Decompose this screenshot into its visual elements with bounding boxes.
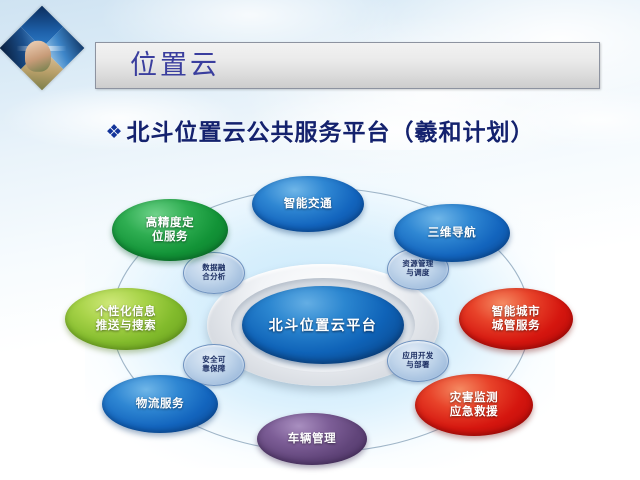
outer-node-line1: 个性化信息 — [96, 305, 157, 319]
outer-node-personalized-info-push-search[interactable]: 个性化信息 推送与搜索 — [65, 288, 187, 350]
page-title: 位置云 — [130, 52, 220, 79]
outer-node-line2: 应急救援 — [450, 405, 498, 419]
outer-node-line1: 智能城市 — [492, 305, 540, 319]
hub-label: 北斗位置云平台 — [269, 315, 378, 335]
outer-node-line1: 智能交通 — [284, 197, 332, 211]
inner-node-line2: 合分析 — [202, 273, 225, 282]
outer-node-three-dimensional-navigation[interactable]: 三维导航 — [394, 204, 510, 262]
outer-node-line1: 灾害监测 — [450, 391, 498, 405]
outer-node-logistics-service[interactable]: 物流服务 — [102, 375, 218, 433]
diamond-photo-collage-logo — [0, 6, 84, 91]
outer-node-high-precision-positioning[interactable]: 高精度定 位服务 — [112, 199, 228, 261]
outer-node-line1: 车辆管理 — [288, 432, 336, 446]
slide-canvas: 位置云 ❖ 北斗位置云公共服务平台（羲和计划） 北斗位置云平台 数据融 合分析 … — [0, 0, 640, 480]
outer-node-smart-city-urban-management[interactable]: 智能城市 城管服务 — [459, 288, 573, 350]
outer-node-vehicle-management[interactable]: 车辆管理 — [257, 413, 367, 465]
inner-node-line2: 与调度 — [406, 269, 429, 278]
outer-node-disaster-monitoring-emergency-rescue[interactable]: 灾害监测 应急救援 — [415, 374, 533, 436]
platform-architecture-diagram: 北斗位置云平台 数据融 合分析 资源管理 与调度 安全可 靠保障 应用开发 与部… — [55, 168, 585, 473]
outer-node-line1: 三维导航 — [428, 226, 476, 240]
inner-node-line2: 与部署 — [406, 361, 429, 370]
outer-node-line2: 城管服务 — [492, 319, 540, 333]
slide-subtitle: 北斗位置云公共服务平台（羲和计划） — [127, 122, 535, 145]
outer-node-line1: 物流服务 — [136, 397, 184, 411]
inner-node-application-development-deployment[interactable]: 应用开发 与部署 — [387, 340, 449, 382]
collage-person-figure — [25, 41, 51, 72]
diamond-bullet-icon: ❖ — [105, 123, 122, 142]
hub-core-platform[interactable]: 北斗位置云平台 — [242, 286, 404, 364]
outer-node-intelligent-transport[interactable]: 智能交通 — [252, 176, 364, 232]
subtitle-row: ❖ 北斗位置云公共服务平台（羲和计划） — [0, 122, 640, 145]
outer-node-line1: 高精度定 — [146, 216, 194, 230]
slide-title-bar: 位置云 — [95, 42, 600, 89]
outer-node-line2: 推送与搜索 — [96, 319, 157, 333]
inner-node-line2: 靠保障 — [202, 365, 225, 374]
outer-node-line2: 位服务 — [152, 230, 188, 244]
